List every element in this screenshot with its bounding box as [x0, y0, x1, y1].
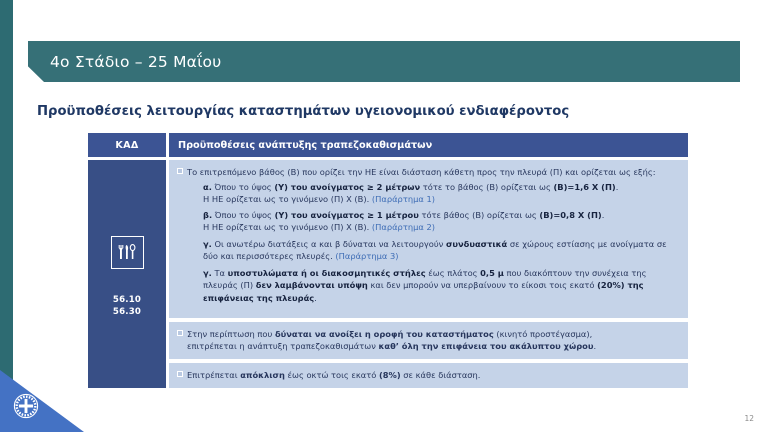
alpha-text-b: (Υ) του ανοίγματος ≥ 2 μέτρων	[274, 182, 420, 192]
table-header-kad: ΚΑΔ	[88, 133, 166, 157]
row3-text-a: Επιτρέπεται	[187, 370, 240, 380]
beta-formula: (Β)=0,8 Χ (Π)	[539, 210, 601, 220]
row3-text-c: έως οκτώ τοις εκατό	[285, 370, 379, 380]
table-cell-kad: 56.10 56.30	[88, 160, 166, 388]
gamma2-text-c: έως πλάτος	[426, 268, 481, 278]
slide-canvas: 4ο Στάδιο – 25 Μαΐου Προϋποθέσεις λειτου…	[0, 0, 768, 432]
gamma2-text-g: και δεν μπορούν να υπερβαίνουν το είκοσι…	[368, 280, 597, 290]
row2-text-d: επιτρέπεται η ανάπτυξη τραπεζοκαθισμάτων	[187, 341, 378, 351]
row3-text-b: απόκλιση	[240, 370, 285, 380]
page-number: 12	[744, 414, 754, 423]
slide-title-bar: 4ο Στάδιο – 25 Μαΐου	[28, 41, 740, 82]
gamma1-text-b: συνδυαστικά	[446, 239, 507, 249]
row2-text-c: (κινητό προστέγασμα),	[494, 329, 593, 339]
table-header-conditions: Προϋποθέσεις ανάπτυξης τραπεζοκαθισμάτων	[169, 133, 688, 157]
sub-item-beta: β. Όπου το ύψος (Υ) του ανοίγματος ≥ 1 μ…	[203, 209, 680, 234]
bullet-text: Στην περίπτωση που δύναται να ανοίξει η …	[187, 328, 680, 352]
left-accent-rail	[0, 0, 13, 432]
beta-line2: Η ΗΕ ορίζεται ως το γινόμενο (Π) Χ (Β).	[203, 222, 372, 232]
alpha-formula: (Β)=1,6 Χ (Π)	[553, 182, 615, 192]
slide-title: 4ο Στάδιο – 25 Μαΐου	[50, 53, 221, 71]
table-header-row: ΚΑΔ Προϋποθέσεις ανάπτυξης τραπεζοκαθισμ…	[88, 133, 688, 157]
row3-text-e: σε κάθε διάσταση.	[401, 370, 481, 380]
square-bullet-icon	[177, 369, 187, 381]
condition-block-3: Επιτρέπεται απόκλιση έως οκτώ τοις εκατό…	[169, 363, 688, 388]
gamma1-text-a: Οι ανωτέρω διατάξεις α και β δύναται να …	[212, 239, 446, 249]
row3-percent: (8%)	[379, 370, 401, 380]
square-bullet-icon	[177, 166, 187, 178]
slide-subtitle: Προϋποθέσεις λειτουργίας καταστημάτων υγ…	[37, 104, 569, 119]
gamma2-width: 0,5 μ	[480, 268, 504, 278]
alpha-text-a: Όπου το ύψος	[212, 182, 274, 192]
sub-item-gamma-2: γ. Τα υποστυλώματα ή οι διακοσμητικές στ…	[203, 267, 680, 304]
condition-block-1: Το επιτρεπόμενο βάθος (Β) που ορίζει την…	[169, 160, 688, 318]
alpha-line2: Η ΗΕ ορίζεται ως το γινόμενο (Π) Χ (Β).	[203, 194, 372, 204]
conditions-table: ΚΑΔ Προϋποθέσεις ανάπτυξης τραπεζοκαθισμ…	[88, 133, 688, 388]
table-cell-conditions: Το επιτρεπόμενο βάθος (Β) που ορίζει την…	[169, 160, 688, 388]
bullet-row: Επιτρέπεται απόκλιση έως οκτώ τοις εκατό…	[177, 369, 680, 381]
row2-text-b: δύναται να ανοίξει η οροφή του καταστήμα…	[275, 329, 494, 339]
beta-text-e: .	[602, 210, 605, 220]
gamma1-label: γ.	[203, 239, 212, 249]
cutlery-icon	[111, 236, 144, 269]
table-body: 56.10 56.30 Το επιτρεπόμενο βάθος (Β) πο…	[88, 160, 688, 388]
gamma1-annex-ref: (Παράρτημα 3)	[335, 251, 398, 261]
bullet-row: Το επιτρεπόμενο βάθος (Β) που ορίζει την…	[177, 166, 680, 178]
beta-text-c: τότε βάθος (Β) ορίζεται ως	[419, 210, 540, 220]
square-bullet-icon	[177, 328, 187, 352]
row2-text-f: .	[593, 341, 596, 351]
gamma2-text-b: υποστυλώματα ή οι διακοσμητικές στήλες	[228, 268, 426, 278]
bullet-text: Το επιτρεπόμενο βάθος (Β) που ορίζει την…	[187, 166, 680, 178]
alpha-text-c: τότε το βάθος (Β) ορίζεται ως	[420, 182, 553, 192]
row2-text-e: καθ’ όλη την επιφάνεια του ακάλυπτου χώρ…	[378, 341, 593, 351]
alpha-text-e: .	[616, 182, 619, 192]
condition-block-2: Στην περίπτωση που δύναται να ανοίξει η …	[169, 322, 688, 359]
hellenic-republic-emblem	[13, 393, 39, 419]
beta-text-b: (Υ) του ανοίγματος ≥ 1 μέτρου	[275, 210, 419, 220]
beta-label: β.	[203, 210, 212, 220]
gamma2-text-f: δεν λαμβάνονται υπόψη	[256, 280, 368, 290]
kad-code-2: 56.30	[113, 307, 141, 319]
bullet-row: Στην περίπτωση που δύναται να ανοίξει η …	[177, 328, 680, 352]
beta-text-a: Όπου το ύψος	[212, 210, 274, 220]
gamma2-text-a: Τα	[212, 268, 228, 278]
gamma2-text-i: .	[314, 293, 317, 303]
gamma2-label: γ.	[203, 268, 212, 278]
alpha-label: α.	[203, 182, 212, 192]
kad-code-1: 56.10	[113, 295, 141, 307]
row2-text-a: Στην περίπτωση που	[187, 329, 275, 339]
bullet-text: Επιτρέπεται απόκλιση έως οκτώ τοις εκατό…	[187, 369, 680, 381]
alpha-annex-ref: (Παράρτημα 1)	[372, 194, 435, 204]
sub-item-gamma-1: γ. Οι ανωτέρω διατάξεις α και β δύναται …	[203, 238, 680, 263]
beta-annex-ref: (Παράρτημα 2)	[372, 222, 435, 232]
sub-item-alpha: α. Όπου το ύψος (Υ) του ανοίγματος ≥ 2 μ…	[203, 181, 680, 206]
